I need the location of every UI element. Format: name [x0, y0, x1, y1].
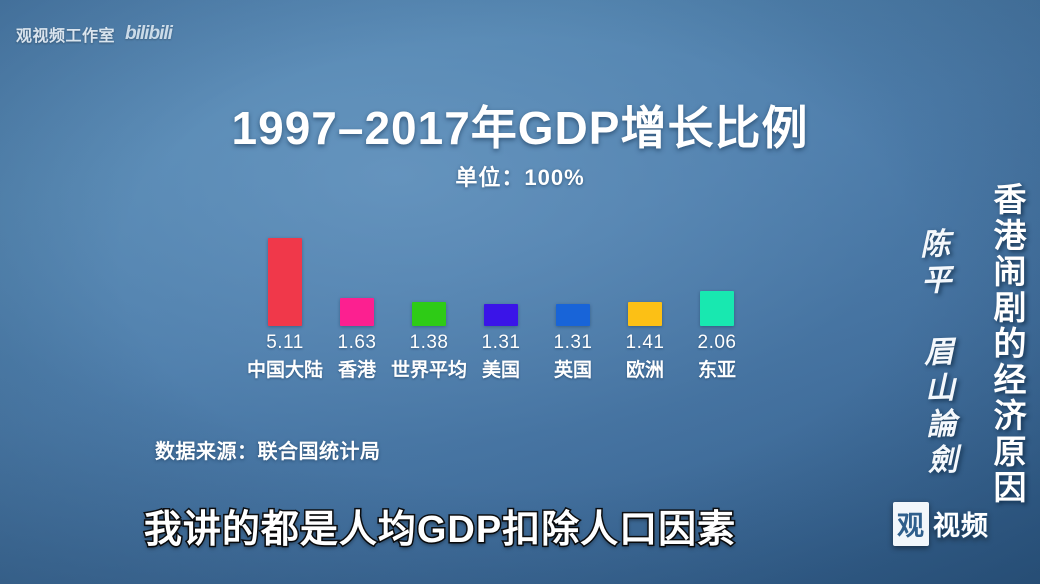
- brand-logo-text: 视频: [929, 502, 992, 546]
- brand-logo: 观 视频: [893, 502, 992, 546]
- bar-track: [680, 230, 754, 326]
- brand-logo-boxed-char: 观: [893, 502, 929, 546]
- bar-value-label: 1.41: [608, 332, 682, 354]
- bar-track: [464, 230, 538, 326]
- bar-track: [536, 230, 610, 326]
- watermark-studio-label: 观视频工作室: [16, 22, 115, 46]
- bar-value-label: 5.11: [248, 332, 322, 354]
- bar: [556, 304, 590, 326]
- bar-track: [608, 230, 682, 326]
- data-source-note: 数据来源：联合国统计局: [155, 435, 381, 464]
- program-title-vertical: 香港闹剧的经济原因: [989, 182, 1024, 506]
- bar: [412, 302, 446, 326]
- bar-value-label: 1.38: [392, 332, 466, 354]
- bar: [268, 238, 302, 326]
- bar-track: [392, 230, 466, 326]
- bar-category-label: 东亚: [668, 355, 766, 382]
- bilibili-logo-icon: bilibili: [125, 23, 172, 45]
- chart-title: 1997–2017年GDP增长比例: [0, 92, 1040, 158]
- bar-track: [320, 230, 394, 326]
- bar: [628, 302, 662, 326]
- bar-value-label: 1.31: [464, 332, 538, 354]
- bar-value-label: 1.31: [536, 332, 610, 354]
- chart-unit-subtitle: 单位：100%: [0, 160, 1040, 192]
- video-caption: 我讲的都是人均GDP扣除人口因素: [0, 498, 880, 553]
- bar: [700, 291, 734, 326]
- channel-watermark: 观视频工作室 bilibili: [16, 22, 172, 46]
- video-frame: 观视频工作室 bilibili 1997–2017年GDP增长比例 单位：100…: [0, 0, 1040, 584]
- bar-value-label: 1.63: [320, 332, 394, 354]
- bar-value-label: 2.06: [680, 332, 754, 354]
- bar-chart: 5.11中国大陆1.63香港1.38世界平均1.31美国1.31英国1.41欧洲…: [248, 230, 776, 390]
- bar: [484, 304, 518, 326]
- bar-track: [248, 230, 322, 326]
- bar: [340, 298, 374, 326]
- host-name-vertical: 陈平 眉山論劍: [909, 227, 963, 480]
- bar-group: 2.06东亚: [680, 230, 754, 390]
